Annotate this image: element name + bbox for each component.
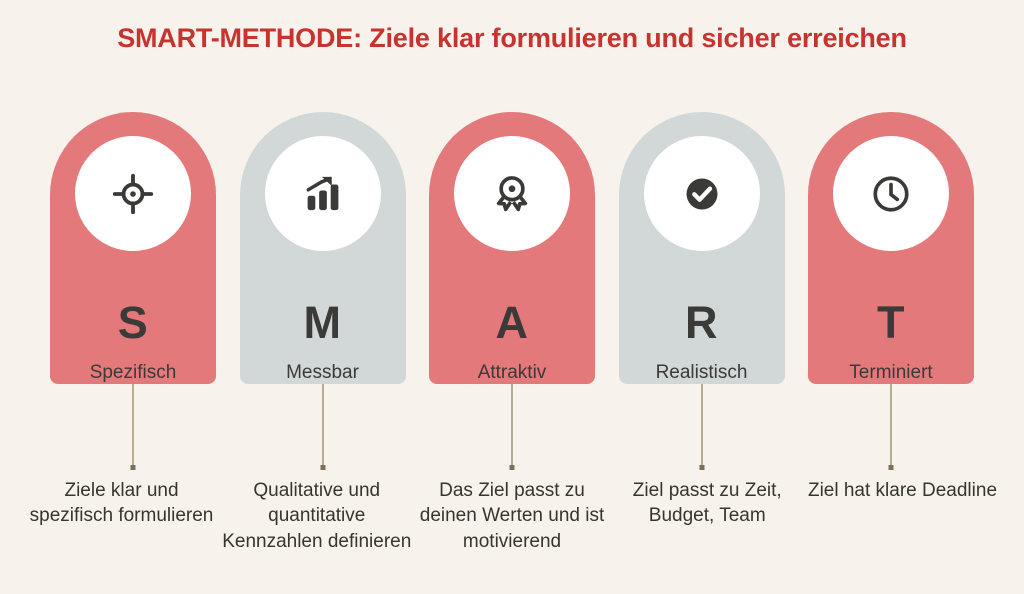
page-title: SMART-METHODE: Ziele klar formulieren un…: [0, 23, 1024, 54]
connector-line: [511, 384, 513, 466]
card-letter: T: [877, 300, 905, 345]
clock-icon: [870, 173, 912, 215]
check-circle-icon: [682, 174, 722, 214]
connector-dot: [889, 465, 894, 470]
connector-line: [701, 384, 703, 466]
connector-r: [619, 384, 785, 470]
icon-container-m: [265, 136, 381, 251]
card-letter: S: [118, 300, 149, 345]
description-m: Qualitative und quantitative Kennzahlen …: [219, 478, 414, 554]
card-label: Realistisch: [656, 362, 748, 384]
connector-s: [50, 384, 216, 470]
connector-a: [429, 384, 595, 470]
card-label: Attraktiv: [478, 362, 547, 384]
connector-line: [132, 384, 134, 466]
card-letter: R: [685, 300, 718, 345]
connector-line: [890, 384, 892, 466]
card-label: Spezifisch: [90, 362, 177, 384]
description-s: Ziele klar und spezifisch formulieren: [24, 478, 219, 554]
connector-lines-row: [50, 384, 974, 470]
award-rosette-icon: [491, 173, 533, 215]
card-letter: A: [496, 300, 529, 345]
connector-dot: [131, 465, 136, 470]
description-a: Das Ziel passt zu deinen Werten und ist …: [415, 478, 610, 554]
card-label: Terminiert: [849, 362, 932, 384]
smart-card-r[interactable]: R Realistisch: [619, 112, 785, 384]
connector-dot: [699, 465, 704, 470]
icon-container-r: [644, 136, 760, 251]
descriptions-row: Ziele klar und spezifisch formulieren Qu…: [24, 478, 1000, 554]
connector-dot: [510, 465, 515, 470]
connector-line: [322, 384, 324, 466]
smart-card-t[interactable]: T Terminiert: [808, 112, 974, 384]
connector-m: [240, 384, 406, 470]
card-letter: M: [304, 300, 342, 345]
card-label: Messbar: [286, 362, 359, 384]
bar-chart-growth-icon: [302, 173, 344, 215]
smart-card-m[interactable]: M Messbar: [240, 112, 406, 384]
smart-card-s[interactable]: S Spezifisch: [50, 112, 216, 384]
icon-container-a: [454, 136, 570, 251]
description-r: Ziel passt zu Zeit, Budget, Team: [610, 478, 805, 554]
description-t: Ziel hat klare Deadline: [805, 478, 1000, 554]
icon-container-t: [833, 136, 949, 251]
crosshair-target-icon: [112, 173, 154, 215]
smart-cards-row: S Spezifisch M Messbar: [50, 112, 974, 384]
icon-container-s: [75, 136, 191, 251]
smart-card-a[interactable]: A Attraktiv: [429, 112, 595, 384]
connector-t: [808, 384, 974, 470]
connector-dot: [320, 465, 325, 470]
